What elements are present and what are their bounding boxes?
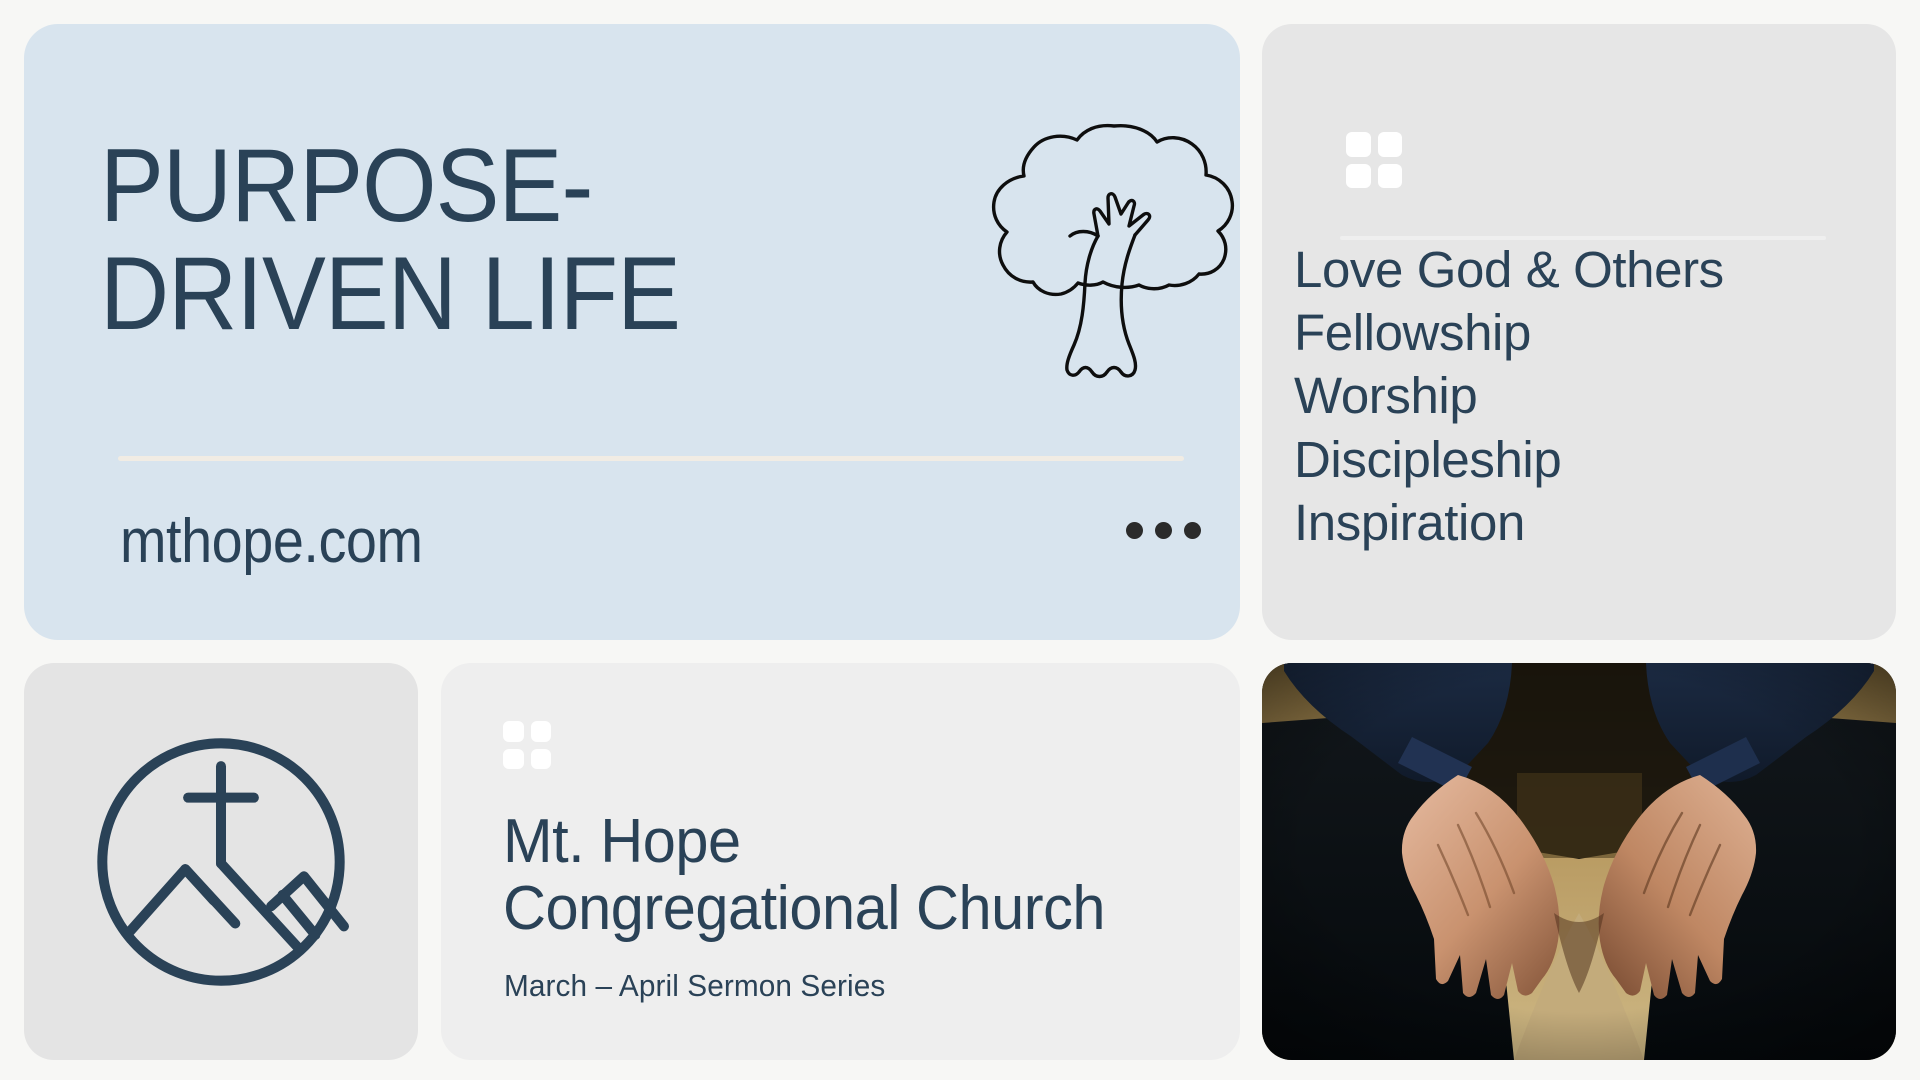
list-item: Love God & Others bbox=[1294, 238, 1894, 301]
values-card: Love God & Others Fellowship Worship Dis… bbox=[1262, 24, 1896, 640]
list-item: Inspiration bbox=[1294, 491, 1894, 554]
ellipsis-dot bbox=[1155, 522, 1172, 539]
grid-square bbox=[531, 749, 552, 770]
grid-square bbox=[531, 721, 552, 742]
open-praying-hands-photo bbox=[1262, 663, 1896, 1060]
four-square-grid-icon bbox=[503, 721, 551, 769]
poster-canvas: PURPOSE- DRIVEN LIFE mthope.com bbox=[0, 0, 1920, 1080]
grid-square bbox=[1346, 132, 1371, 157]
list-item: Fellowship bbox=[1294, 301, 1894, 364]
info-card: Mt. Hope Congregational Church March – A… bbox=[441, 663, 1240, 1060]
page-title: PURPOSE- DRIVEN LIFE bbox=[100, 132, 910, 348]
grid-square bbox=[503, 749, 524, 770]
ellipsis-dot bbox=[1184, 522, 1201, 539]
list-item: Discipleship bbox=[1294, 428, 1894, 491]
ellipsis-icon[interactable] bbox=[1126, 522, 1201, 539]
logo-card bbox=[24, 663, 418, 1060]
grid-square bbox=[1346, 164, 1371, 189]
grid-square bbox=[1378, 164, 1403, 189]
values-list: Love God & Others Fellowship Worship Dis… bbox=[1294, 238, 1894, 554]
hero-card: PURPOSE- DRIVEN LIFE mthope.com bbox=[24, 24, 1240, 640]
grid-square bbox=[1378, 132, 1403, 157]
sermon-series-subtitle: March – April Sermon Series bbox=[504, 968, 885, 1004]
ellipsis-dot bbox=[1126, 522, 1143, 539]
list-item: Worship bbox=[1294, 364, 1894, 427]
tree-line-art-icon bbox=[962, 102, 1240, 402]
grid-square bbox=[503, 721, 524, 742]
church-name: Mt. Hope Congregational Church bbox=[503, 809, 1213, 943]
four-square-grid-icon bbox=[1346, 132, 1402, 188]
mountain-cross-circle-logo-icon bbox=[78, 719, 364, 1005]
hero-divider bbox=[118, 456, 1184, 461]
website-url: mthope.com bbox=[120, 506, 423, 577]
